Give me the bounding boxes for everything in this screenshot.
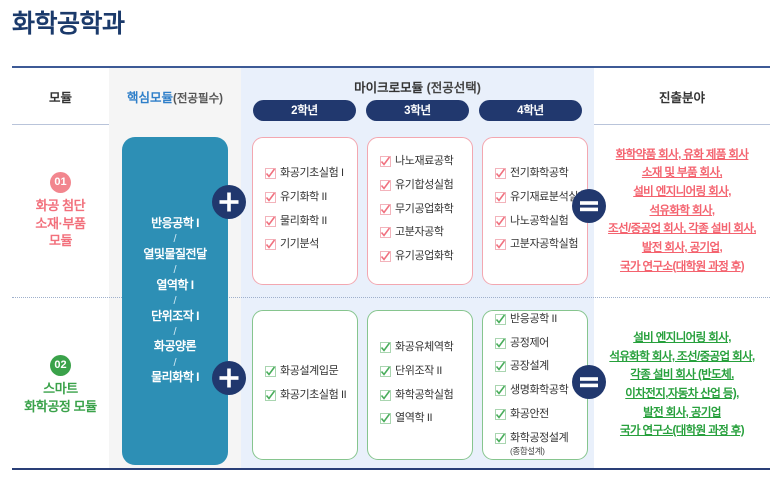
course-item: 기기분석 <box>265 238 349 255</box>
module-name-line: 스마트 <box>43 380 78 398</box>
check-icon <box>495 314 506 330</box>
course-name: 유기공업화학 <box>395 250 453 264</box>
career-line: 국가 연구소(대학원 과정 후) <box>620 422 744 441</box>
core-separator: / <box>173 233 176 245</box>
course-name: 나노재료공학 <box>395 155 453 169</box>
course-item: 전기화학공학 <box>495 167 579 184</box>
course-item: 화공안전 <box>495 408 579 425</box>
check-icon <box>495 239 506 255</box>
grade-pill-year4[interactable]: 4학년 <box>479 100 582 121</box>
core-course: 반응공학 I <box>151 217 199 231</box>
career-line: 석유화학 회사, 조선/중공업 회사, <box>609 348 754 367</box>
course-name: 화공안전 <box>510 408 549 422</box>
course-name: 기기분석 <box>280 238 319 252</box>
course-name: 유기합성실험 <box>395 179 453 193</box>
micro-card-year2[interactable]: 화공기초실험 I 유기화학 II 물리화학 II 기기분석 <box>252 137 358 285</box>
grade-pill-year2[interactable]: 2학년 <box>253 100 356 121</box>
course-item: 무기공업화학 <box>380 203 464 220</box>
check-icon <box>380 156 391 172</box>
course-item: 화학공정설계 (종합설계) <box>495 432 579 457</box>
module-name-cell: 02 스마트 화학공정 모듈 <box>12 298 109 472</box>
module-number-badge: 01 <box>50 172 71 193</box>
check-icon <box>265 168 276 184</box>
core-separator: / <box>173 264 176 276</box>
course-name: 화공기초실험 I <box>280 167 344 181</box>
core-course: 물리화학 I <box>151 371 199 385</box>
course-item: 공정제어 <box>495 337 579 354</box>
career-line: 이차전지,자동차 산업 등), <box>625 385 738 404</box>
career-line: 발전 회사, 공기업, <box>642 239 722 258</box>
check-icon <box>265 390 276 406</box>
course-name: 열역학 II <box>395 412 432 426</box>
course-name: 화공설계입문 <box>280 365 338 379</box>
table-header: 모듈 핵심모듈(전공필수) 마이크로모듈 (전공선택) 2학년 3학년 4학년 … <box>12 68 770 125</box>
course-item: 반응공학 II <box>495 313 579 330</box>
check-icon <box>380 180 391 196</box>
check-icon <box>380 251 391 267</box>
course-item: 화공설계입문 <box>265 365 349 382</box>
course-name: 공정제어 <box>510 337 549 351</box>
course-name: 화학공학실험 <box>395 389 453 403</box>
course-name: 화학공정설계 <box>510 432 568 444</box>
check-icon <box>495 361 506 377</box>
course-item: 나노공학실험 <box>495 215 579 232</box>
course-item: 화공유체역학 <box>380 341 464 358</box>
check-icon <box>495 385 506 401</box>
plus-icon <box>212 185 246 219</box>
course-item: 생명화학공학 <box>495 384 579 401</box>
core-separator: / <box>173 326 176 338</box>
check-icon <box>495 216 506 232</box>
header-micro-sub: (전공선택) <box>427 81 481 95</box>
course-item: 고분자공학실험 <box>495 238 579 255</box>
equals-icon <box>572 365 606 399</box>
curriculum-page: 화학공학과 모듈 핵심모듈(전공필수) 마이크로모듈 (전공선택) 2학년 3학… <box>0 0 782 487</box>
course-name: 고분자공학실험 <box>510 238 578 252</box>
course-item: 열역학 II <box>380 412 464 429</box>
header-micro-module: 마이크로모듈 (전공선택) 2학년 3학년 4학년 <box>241 68 594 125</box>
course-item: 화공기초실험 I <box>265 167 349 184</box>
module-number-badge: 02 <box>50 355 71 376</box>
course-item: 유기합성실험 <box>380 179 464 196</box>
course-name: 물리화학 II <box>280 215 327 229</box>
header-core-main: 핵심모듈 <box>127 91 173 105</box>
check-icon <box>380 413 391 429</box>
check-icon <box>380 390 391 406</box>
header-micro-main: 마이크로모듈 <box>354 81 423 95</box>
career-cell: 화학약품 회사, 유화 제품 회사 소재 및 부품 회사, 설비 엔지니어링 회… <box>594 125 770 297</box>
course-item: 공장설계 <box>495 360 579 377</box>
course-name: 단위조작 II <box>395 365 442 379</box>
core-course: 열역학 I <box>156 279 193 293</box>
course-name: 생명화학공학 <box>510 384 568 398</box>
course-name: 화공기초실험 II <box>280 389 346 403</box>
header-career: 진출분야 <box>594 68 770 125</box>
course-item: 유기재료분석실험 <box>495 191 579 208</box>
header-core-sub: (전공필수) <box>173 93 223 105</box>
career-line: 발전 회사, 공기업 <box>643 404 721 423</box>
course-name: 나노공학실험 <box>510 215 568 229</box>
career-cell: 설비 엔지니어링 회사, 석유화학 회사, 조선/중공업 회사, 각종 설비 회… <box>594 298 770 472</box>
micro-module-zone: 화공설계입문 화공기초실험 II 화공유체역학 <box>241 298 594 472</box>
module-name-line: 소재·부품 <box>35 215 85 233</box>
career-line: 설비 엔지니어링 회사, <box>633 183 731 202</box>
check-icon <box>380 342 391 358</box>
check-icon <box>495 433 506 449</box>
check-icon <box>495 338 506 354</box>
micro-card-year2[interactable]: 화공설계입문 화공기초실험 II <box>252 310 358 460</box>
check-icon <box>495 168 506 184</box>
course-name: 무기공업화학 <box>395 203 453 217</box>
career-line: 설비 엔지니어링 회사, <box>633 329 731 348</box>
course-item: 물리화학 II <box>265 215 349 232</box>
check-icon <box>380 204 391 220</box>
check-icon <box>265 239 276 255</box>
core-course: 단위조작 I <box>151 310 199 324</box>
micro-module-zone: 화공기초실험 I 유기화학 II 물리화학 II 기기분석 <box>241 125 594 297</box>
course-item: 유기화학 II <box>265 191 349 208</box>
check-icon <box>495 409 506 425</box>
check-icon <box>495 192 506 208</box>
career-line: 국가 연구소(대학원 과정 후) <box>620 258 744 277</box>
micro-card-year3[interactable]: 나노재료공학 유기합성실험 무기공업화학 고분자공학 <box>367 137 473 285</box>
course-item: 화학공학실험 <box>380 389 464 406</box>
career-line: 각종 설비 회사 (반도체, <box>630 366 733 385</box>
check-icon <box>380 366 391 382</box>
course-name-group: 화학공정설계 (종합설계) <box>510 432 568 457</box>
core-course: 열및물질전달 <box>143 248 206 262</box>
course-item: 고분자공학 <box>380 226 464 243</box>
header-core-module: 핵심모듈(전공필수) <box>109 68 241 125</box>
module-name-line: 화학공정 모듈 <box>24 398 97 416</box>
course-name: 공장설계 <box>510 360 549 374</box>
core-course: 화공양론 <box>154 340 196 354</box>
career-line: 소재 및 부품 회사, <box>642 164 722 183</box>
core-separator: / <box>173 357 176 369</box>
course-name: 고분자공학 <box>395 226 444 240</box>
plus-icon <box>212 361 246 395</box>
grade-pill-row: 2학년 3학년 4학년 <box>241 96 594 121</box>
header-micro-title: 마이크로모듈 (전공선택) <box>241 73 594 96</box>
course-item: 나노재료공학 <box>380 155 464 172</box>
career-line: 화학약품 회사, 유화 제품 회사 <box>616 146 749 165</box>
equals-icon <box>572 189 606 223</box>
course-item: 화공기초실험 II <box>265 389 349 406</box>
check-icon <box>265 216 276 232</box>
micro-card-year3[interactable]: 화공유체역학 단위조작 II 화학공학실험 열역학 II <box>367 310 473 460</box>
page-title: 화학공학과 <box>12 4 125 40</box>
career-line: 석유화학 회사, <box>649 202 714 221</box>
course-item: 단위조작 II <box>380 365 464 382</box>
course-name-sub: (종합설계) <box>510 446 568 457</box>
core-separator: / <box>173 295 176 307</box>
header-module: 모듈 <box>12 68 109 125</box>
curriculum-table: 모듈 핵심모듈(전공필수) 마이크로모듈 (전공선택) 2학년 3학년 4학년 … <box>12 66 770 470</box>
career-line: 조선/중공업 회사, 각종 설비 회사, <box>608 220 756 239</box>
module-name-cell: 01 화공 첨단 소재·부품 모듈 <box>12 125 109 297</box>
grade-pill-year3[interactable]: 3학년 <box>366 100 469 121</box>
course-item: 유기공업화학 <box>380 250 464 267</box>
check-icon <box>265 192 276 208</box>
module-name-line: 화공 첨단 <box>36 197 85 215</box>
course-name: 유기화학 II <box>280 191 327 205</box>
check-icon <box>380 227 391 243</box>
course-name: 화공유체역학 <box>395 341 453 355</box>
course-name: 전기화학공학 <box>510 167 568 181</box>
course-name: 반응공학 II <box>510 313 557 327</box>
check-icon <box>265 366 276 382</box>
module-name-line: 모듈 <box>49 232 72 250</box>
